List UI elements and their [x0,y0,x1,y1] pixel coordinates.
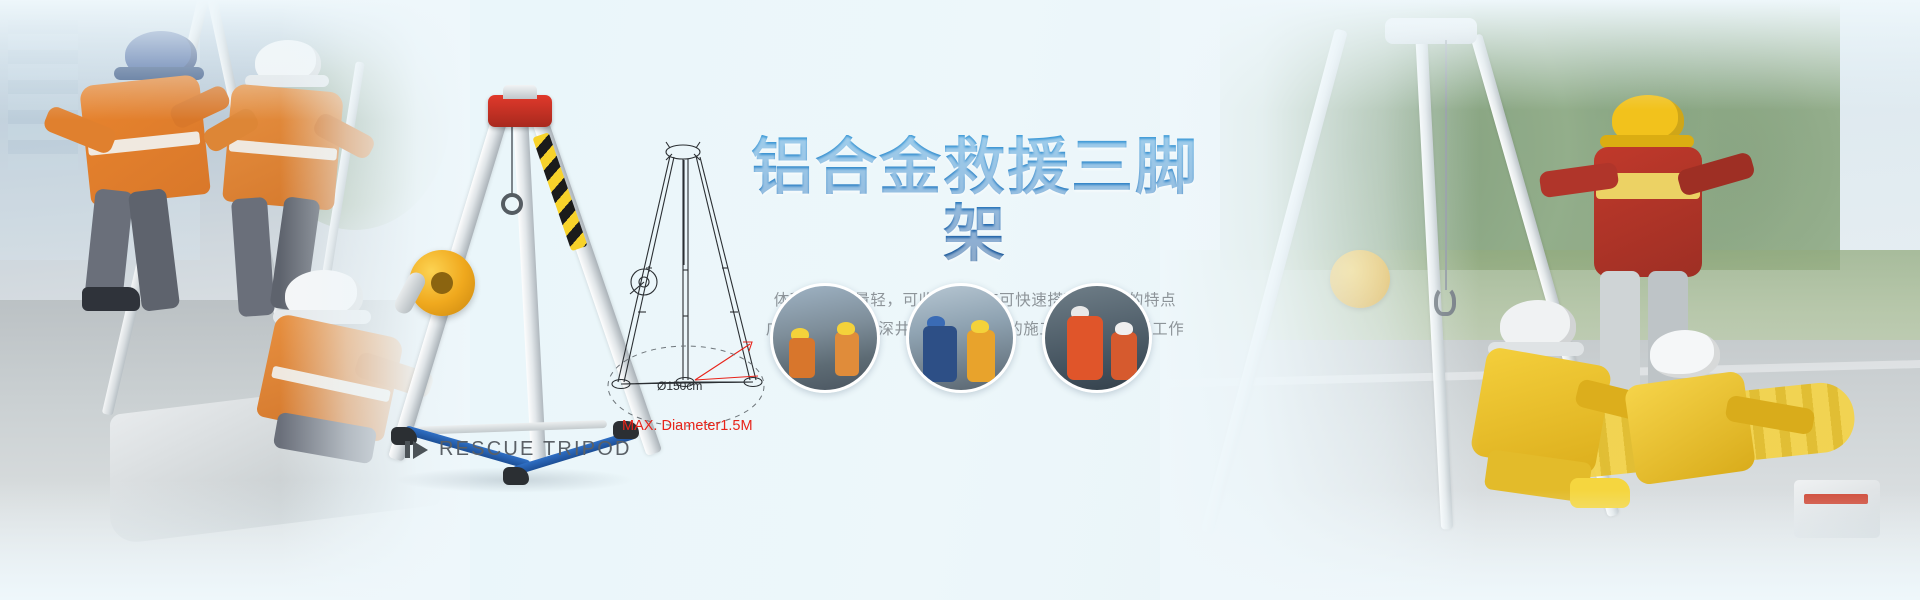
thumb-rescue-site-3[interactable] [1042,283,1152,393]
pulley-icon [501,193,523,215]
right-photo-collage [1160,0,1920,600]
product-leg-center [513,115,546,465]
play-marker-icon [405,441,428,459]
page-title: 铝合金救援三脚架 [740,135,1210,269]
product-banner: RESCUE TRIPOD [0,0,1920,600]
thumb-rescue-site-2[interactable] [906,283,1016,393]
rescuer-leg-left [84,188,133,301]
helmet-icon [791,328,809,341]
worker-torso [1624,370,1757,486]
product-cable [511,127,513,197]
helmet-icon [837,322,855,335]
product-name-label: RESCUE TRIPOD [405,438,632,461]
product-warning-tape [532,132,587,251]
helmet-icon [1115,322,1133,335]
rescuer-boot [82,287,140,311]
product-head-assembly [488,95,552,127]
product-base-bar-back [407,420,607,435]
product-head-cap [503,85,537,99]
product-foot-2 [503,467,529,485]
thumb-rescue-site-1[interactable] [770,283,880,393]
thumbnail-row [770,283,1152,393]
helmet-icon [927,316,945,329]
helmet-icon [1650,330,1720,378]
helmet-icon [1071,306,1089,319]
drawing-diameter-label: Ø150cm [657,379,702,393]
drawing-max-diameter-label: MAX. Diameter1.5M [622,418,753,434]
helmet-icon [971,320,989,333]
